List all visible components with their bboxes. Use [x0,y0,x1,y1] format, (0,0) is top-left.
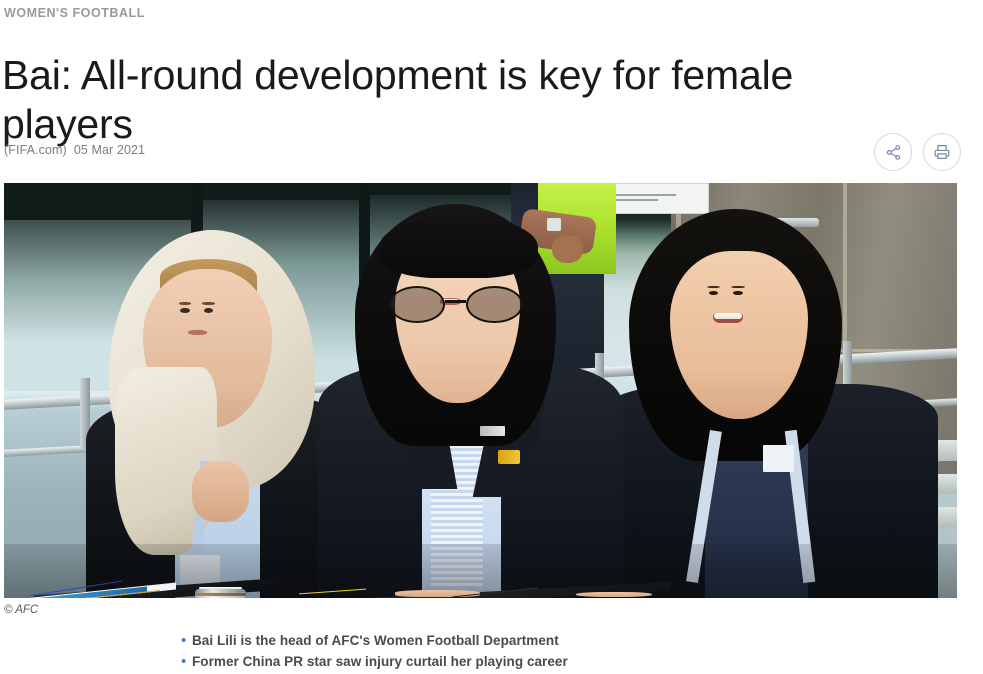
highlight-text: Former China PR star saw injury curtail … [192,653,568,670]
byline-date: 05 Mar 2021 [74,143,145,157]
article-highlights: • Bai Lili is the head of AFC's Women Fo… [181,632,881,674]
list-item: • Former China PR star saw injury curtai… [181,653,881,670]
article-actions [874,133,961,171]
bottle-cap [199,587,242,589]
bullet-marker: • [181,653,192,670]
list-item: • Bai Lili is the head of AFC's Women Fo… [181,632,881,649]
eyebrow [202,302,215,305]
hand [192,461,249,522]
image-credit: © AFC [4,604,38,616]
highlight-text: Bai Lili is the head of AFC's Women Foot… [192,632,559,649]
name-bar-pin [480,426,504,436]
photo-canvas [4,183,957,598]
byline-source: (FIFA.com) [4,143,67,157]
conference-table [4,544,957,598]
bullet-marker: • [181,632,192,649]
eye [733,291,743,295]
eyebrow [179,302,192,305]
hand [576,592,652,597]
person-center [318,208,623,598]
yellow-marker-strip [299,589,366,595]
accreditation-badge [763,445,794,472]
article-hero-image [4,183,957,598]
bottle-label [195,593,246,596]
share-button[interactable] [874,133,912,171]
eyebrow [707,286,721,289]
eyeglasses [389,286,523,323]
eyebrow [731,286,745,289]
hair-fringe [379,216,538,278]
eye [180,308,190,313]
glasses-lens [466,286,522,323]
hand [395,590,481,596]
byline: (FIFA.com)05 Mar 2021 [4,143,145,157]
article-page: WOMEN'S FOOTBALL Bai: All-round developm… [0,0,983,674]
eye [204,308,214,313]
print-button[interactable] [923,133,961,171]
print-icon [933,143,951,161]
glasses-lens [389,286,445,323]
smiling-mouth [713,313,743,323]
glasses-bridge [445,300,466,303]
page-title: Bai: All-round development is key for fe… [2,51,872,149]
share-icon [885,144,902,161]
water-bottle [195,589,246,598]
person-right [595,216,938,598]
eye [709,291,719,295]
afc-lapel-pin [498,450,519,464]
mouth [188,330,207,335]
category-kicker[interactable]: WOMEN'S FOOTBALL [4,6,145,20]
